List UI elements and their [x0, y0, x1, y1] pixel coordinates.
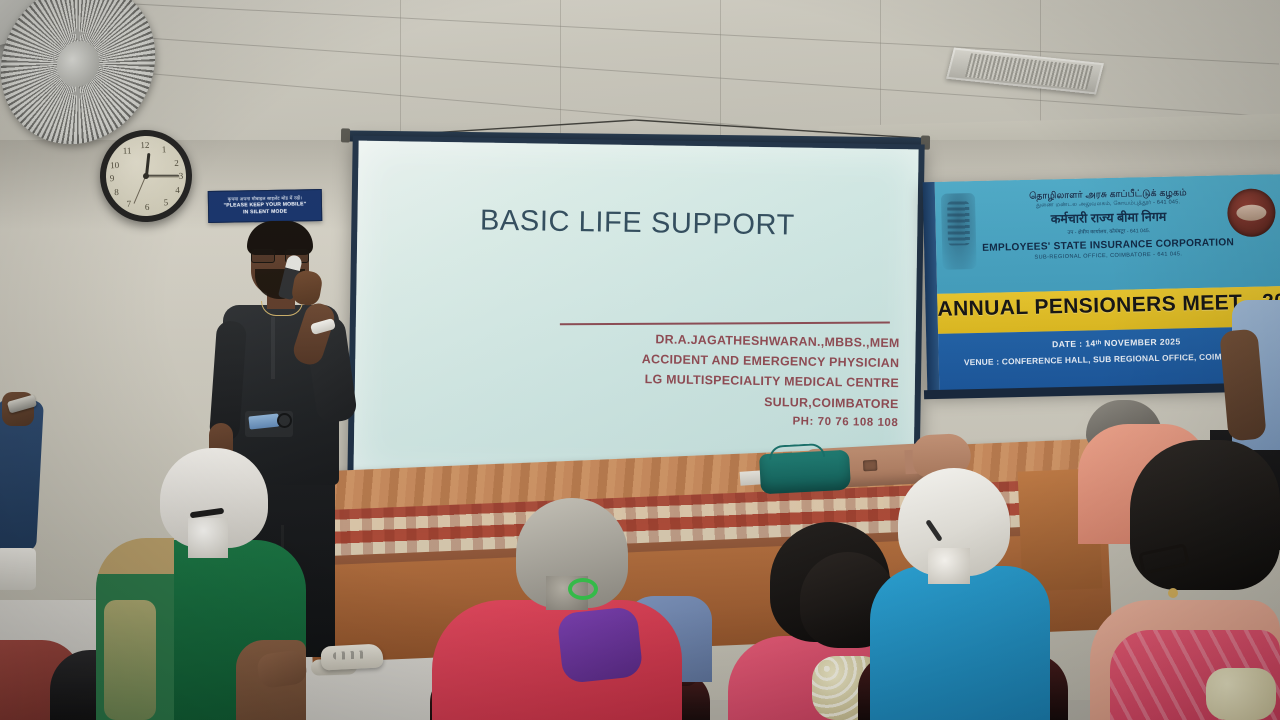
clock-numeral: 5	[159, 197, 173, 207]
clock-numeral: 1	[157, 144, 171, 154]
clock-numeral: 8	[109, 187, 123, 197]
silent-mode-sign: कृपया अपना मोबाइल साइलेंट मोड में रखें। …	[208, 189, 323, 223]
ac-vent-icon	[946, 48, 1104, 95]
attendee-blue-top	[870, 566, 1050, 720]
clock-numeral: 9	[105, 173, 119, 183]
clock-numeral: 6	[140, 202, 154, 212]
equipment-bag	[759, 450, 851, 495]
clock-numeral: 4	[170, 185, 184, 195]
conference-hall-photo: 12 1 2 3 4 5 6 7 8 9 10 11 कृपया अपना मो…	[0, 0, 1280, 720]
clock-numeral: 12	[138, 140, 152, 150]
flower-garland	[1206, 668, 1276, 720]
shoe	[320, 643, 383, 670]
slide-title: BASIC LIFE SUPPORT	[357, 203, 917, 245]
attendee-pink-saree	[432, 600, 682, 720]
water-bottle	[0, 548, 36, 590]
clock-numeral: 10	[107, 160, 121, 170]
earring-icon	[1168, 588, 1178, 598]
hair-tie-icon	[568, 578, 598, 600]
slide-surface: BASIC LIFE SUPPORT DR.A.JAGATHESHWARAN.,…	[353, 141, 918, 488]
clock-minute-hand	[146, 175, 179, 178]
sign-english-line2: IN SILENT MODE	[243, 209, 287, 217]
slide-divider	[560, 322, 890, 326]
clock-numeral: 2	[169, 158, 183, 168]
slide-presenter-block: DR.A.JAGATHESHWARAN.,MBBS.,MEM ACCIDENT …	[464, 326, 900, 432]
clock-numeral: 11	[120, 145, 134, 155]
sign-hindi-text: कृपया अपना मोबाइल साइलेंट मोड में रखें।	[228, 195, 302, 202]
